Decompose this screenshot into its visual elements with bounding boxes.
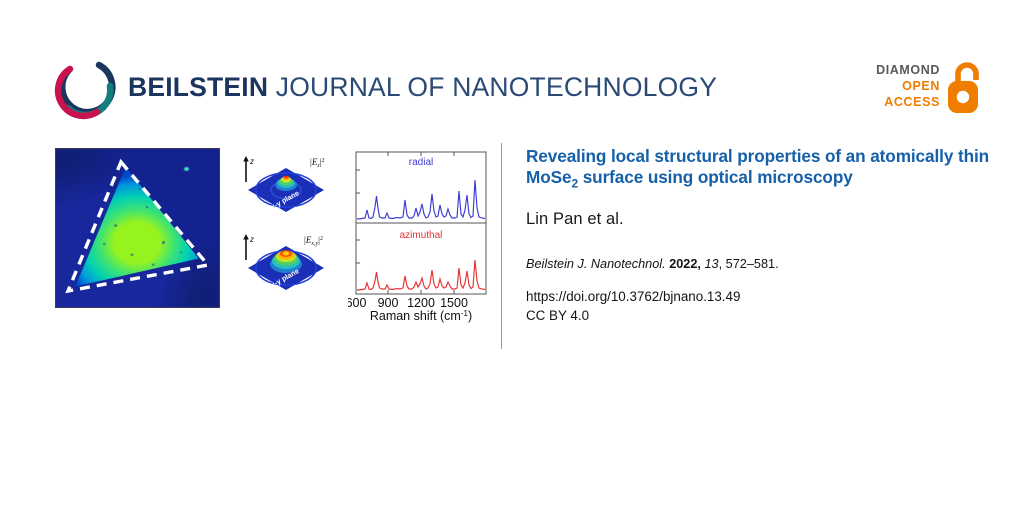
white-dashed-triangle-overlay xyxy=(56,149,219,307)
open-access-words: DIAMOND OPEN ACCESS xyxy=(876,62,940,110)
svg-text:|Ez|2: |Ez|2 xyxy=(310,157,324,169)
spectrum-label-radial: radial xyxy=(409,157,433,168)
article-title[interactable]: Revealing local structural properties of… xyxy=(526,140,996,193)
svg-text:1200: 1200 xyxy=(407,296,435,310)
masthead-title-bold: BEILSTEIN xyxy=(128,72,268,102)
svg-text:900: 900 xyxy=(378,296,399,310)
article-title-part2: surface using optical microscopy xyxy=(578,167,853,187)
citation-journal: Beilstein J. Nanotechnol. xyxy=(526,257,666,271)
svg-text:|Ex,y|2: |Ex,y|2 xyxy=(304,235,323,247)
spectrum-xlabel: Raman shift (cm-1) xyxy=(370,309,472,323)
article-info-panel: Revealing local structural properties of… xyxy=(526,140,996,325)
article-authors: Lin Pan et al. xyxy=(526,210,996,229)
open-access-badge: DIAMOND OPEN ACCESS xyxy=(866,60,986,122)
oa-access-label: ACCESS xyxy=(876,94,940,110)
figure-strip: z x-y plane |Ez|2 z xyxy=(0,140,500,350)
oa-diamond-label: DIAMOND xyxy=(876,62,940,78)
vertical-divider xyxy=(501,143,502,349)
article-citation: Beilstein J. Nanotechnol. 2022, 13, 572–… xyxy=(526,257,996,271)
citation-volume: 13 xyxy=(704,257,718,271)
beilstein-swirl-logo xyxy=(53,56,119,122)
open-padlock-icon xyxy=(946,60,986,116)
masthead-title-light: JOURNAL OF NANOTECHNOLOGY xyxy=(268,72,717,102)
field-plot-exy: z x-y plane |Ex,y|2 xyxy=(238,230,333,300)
photoluminescence-micrograph xyxy=(55,148,220,308)
citation-pages: 572–581. xyxy=(726,257,779,271)
masthead-title: BEILSTEIN JOURNAL OF NANOTECHNOLOGY xyxy=(128,72,717,103)
spectrum-label-azimuthal: azimuthal xyxy=(400,230,443,241)
svg-text:z: z xyxy=(249,235,254,244)
field-plot-ez: z x-y plane |Ez|2 xyxy=(238,152,333,222)
svg-text:600: 600 xyxy=(348,296,366,310)
oa-open-label: OPEN xyxy=(876,78,940,94)
raman-spectra-plot: radial azimuthal 600 900 1200 1500 Raman… xyxy=(348,148,494,323)
svg-text:z: z xyxy=(249,157,254,166)
article-doi-link[interactable]: https://doi.org/10.3762/bjnano.13.49 xyxy=(526,287,996,306)
masthead: BEILSTEIN JOURNAL OF NANOTECHNOLOGY DIAM… xyxy=(0,0,1024,140)
svg-text:1500: 1500 xyxy=(440,296,468,310)
article-license: CC BY 4.0 xyxy=(526,306,996,325)
citation-year: 2022 xyxy=(669,257,697,271)
